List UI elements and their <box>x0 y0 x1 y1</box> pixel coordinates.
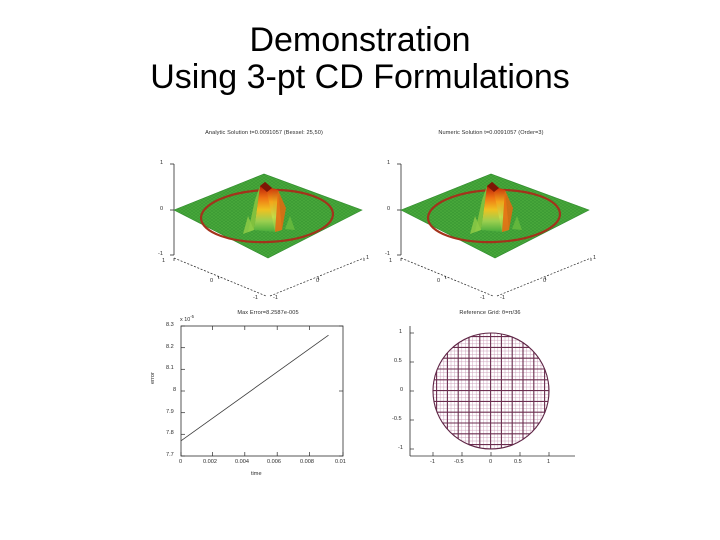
refgrid-ytick-1: 1 <box>399 329 402 335</box>
refgrid-ytick-m0_5: -0.5 <box>392 416 402 422</box>
analytic-xtick-0: 0 <box>210 278 213 284</box>
chart-analytic-surface: Analytic Solution t=0.0091057 (Bessel: 2… <box>148 130 380 305</box>
error-ytick-7_8: 7.8 <box>166 430 174 436</box>
analytic-ztick-0: 0 <box>160 206 163 212</box>
figure-image: Analytic Solution t=0.0091057 (Bessel: 2… <box>130 130 600 500</box>
error-ytick-8_2: 8.2 <box>166 344 174 350</box>
refgrid-ytick-0_5: 0.5 <box>394 358 402 364</box>
error-ytick-7_9: 7.9 <box>166 409 174 415</box>
error-xtick-0_006: 0.006 <box>267 459 281 465</box>
analytic-surface-canvas <box>148 130 380 305</box>
error-ytick-8: 8 <box>173 387 176 393</box>
refgrid-xtick-m1: -1 <box>430 459 435 465</box>
chart-reference-grid: Reference Grid: θ=π/36 <box>375 310 607 495</box>
title-line-2: Using 3-pt CD Formulations <box>0 59 720 96</box>
error-xtick-0_01: 0.01 <box>335 459 346 465</box>
refgrid-xtick-0_5: 0.5 <box>514 459 522 465</box>
refgrid-ytick-m1: -1 <box>398 445 403 451</box>
analytic-ztick-m1: -1 <box>158 251 163 257</box>
chart-error-plot: Max Error=8.2587e-005 x 10-5 <box>148 310 380 495</box>
numeric-ytick-m1: -1 <box>500 295 505 301</box>
error-xtick-0_008: 0.008 <box>300 459 314 465</box>
chart-title-reference-grid: Reference Grid: θ=π/36 <box>395 310 585 316</box>
numeric-ytick-1: 1 <box>593 255 596 261</box>
error-ytick-7_7: 7.7 <box>166 452 174 458</box>
error-xtick-0_004: 0.004 <box>235 459 249 465</box>
slide: Demonstration Using 3-pt CD Formulations… <box>0 0 720 540</box>
analytic-ztick-1: 1 <box>160 160 163 166</box>
numeric-xtick-0: 0 <box>437 278 440 284</box>
analytic-xtick-1: 1 <box>162 258 165 264</box>
numeric-ytick-0: 0 <box>543 278 546 284</box>
error-xtick-0: 0 <box>179 459 182 465</box>
analytic-ytick-1: 1 <box>366 255 369 261</box>
error-xlabel: time <box>251 471 262 477</box>
refgrid-xtick-0: 0 <box>489 459 492 465</box>
chart-title-error: Max Error=8.2587e-005 <box>178 310 358 316</box>
title-line-1: Demonstration <box>0 22 720 59</box>
refgrid-xtick-1: 1 <box>547 459 550 465</box>
error-y-exponent: x 10-5 <box>180 314 194 323</box>
error-xtick-0_002: 0.002 <box>203 459 217 465</box>
analytic-ytick-m1: -1 <box>273 295 278 301</box>
error-plot-canvas <box>148 310 380 495</box>
error-ylabel: error <box>150 372 156 384</box>
error-ytick-8_3: 8.3 <box>166 322 174 328</box>
numeric-ztick-0: 0 <box>387 206 390 212</box>
numeric-ztick-1: 1 <box>387 160 390 166</box>
grid-mesh <box>433 333 549 449</box>
numeric-xtick-m1: -1 <box>480 295 485 301</box>
chart-title-numeric: Numeric Solution t=0.0091057 (Order=3) <box>375 130 607 136</box>
analytic-xtick-m1: -1 <box>253 295 258 301</box>
numeric-surface-canvas <box>375 130 607 305</box>
refgrid-xtick-m0_5: -0.5 <box>454 459 464 465</box>
error-y-exponent-mantissa: x 10 <box>180 317 190 323</box>
numeric-ztick-m1: -1 <box>385 251 390 257</box>
error-y-exponent-power: -5 <box>190 314 194 319</box>
reference-grid-canvas <box>375 310 607 495</box>
chart-title-analytic: Analytic Solution t=0.0091057 (Bessel: 2… <box>148 130 380 136</box>
numeric-xtick-1: 1 <box>389 258 392 264</box>
error-ytick-8_1: 8.1 <box>166 365 174 371</box>
page-title: Demonstration Using 3-pt CD Formulations <box>0 22 720 95</box>
chart-numeric-surface: Numeric Solution t=0.0091057 (Order=3) <box>375 130 607 305</box>
refgrid-ytick-0: 0 <box>400 387 403 393</box>
analytic-ytick-0: 0 <box>316 278 319 284</box>
